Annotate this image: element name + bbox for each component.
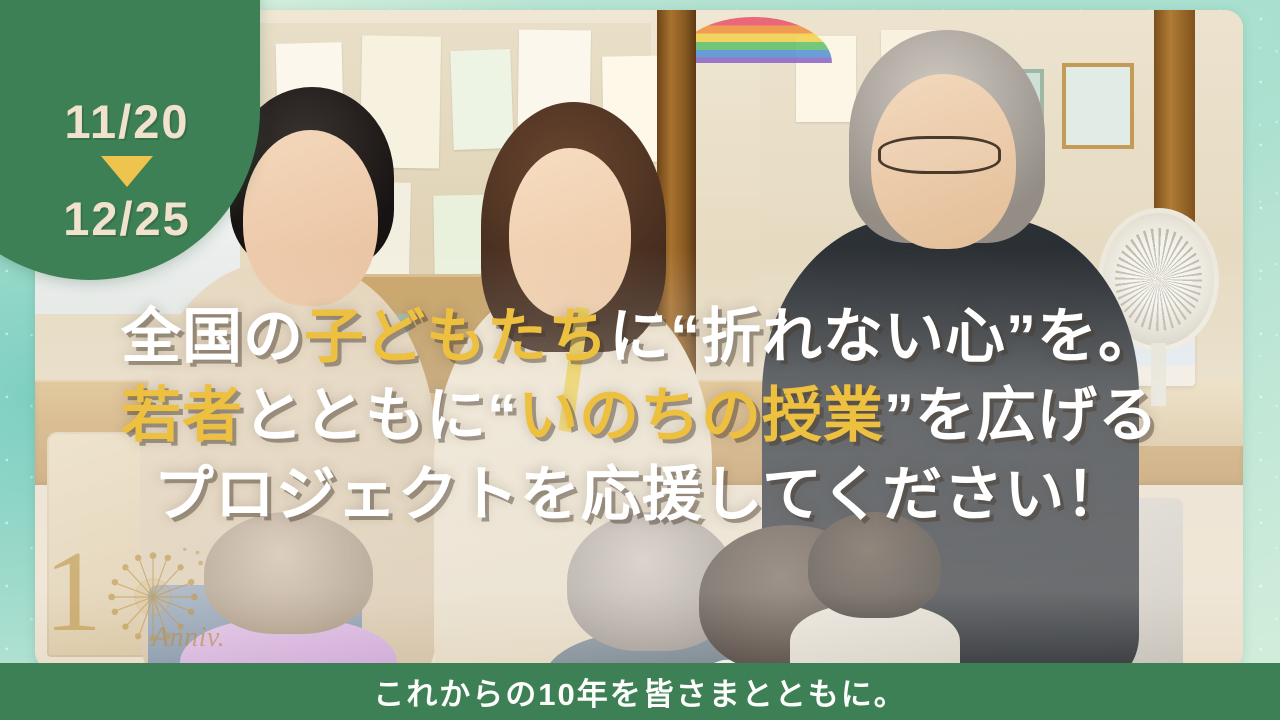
face [509,148,631,318]
headline-segment: 若者 [121,382,243,449]
headline: 全国の子どもたちに“折れない心”を。 若者とともに“いのちの授業”を広げる プロ… [0,300,1280,538]
campaign-date-badge: 11/20 12/25 [0,0,260,280]
date-start: 11/20 [64,97,189,147]
headline-segment: ”を広げる [884,382,1159,449]
date-end: 12/25 [63,194,191,244]
headline-segment: とともに“ [243,382,518,449]
headline-segment: に“折れない心”を。 [609,303,1159,370]
tagline-bar: これからの10年を皆さまとともに。 [0,663,1280,720]
headline-segment: 子どもたち [304,303,609,370]
headline-segment: プロジェクトを応援してください！ [154,461,1126,528]
headline-line-2: 若者とともに“いのちの授業”を広げる [0,379,1280,452]
headline-line-1: 全国の子どもたちに“折れない心”を。 [0,300,1280,373]
glasses-icon [878,136,1001,174]
banner-stage: 1 [0,0,1280,720]
headline-segment: いのちの授業 [518,382,884,449]
face [243,130,379,306]
triangle-down-icon [101,156,153,187]
headline-line-3: プロジェクトを応援してください！ [0,458,1280,531]
tagline-text: これからの10年を皆さまとともに。 [373,669,906,714]
headline-segment: 全国の [121,303,304,370]
